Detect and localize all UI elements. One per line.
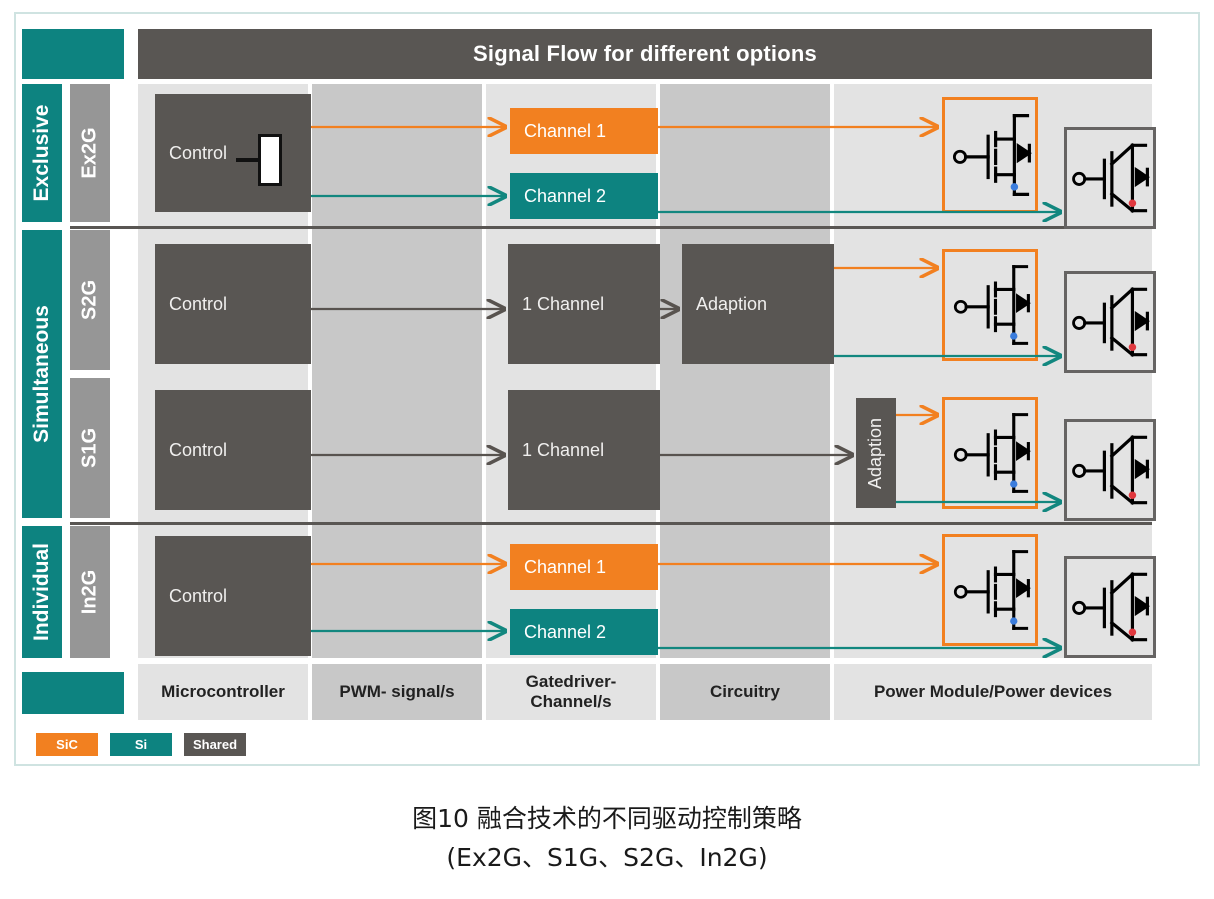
control-label-ex2g: Control <box>155 143 227 164</box>
circuitry-adaption-label-s2g: Adaption <box>682 294 767 315</box>
column-strip-pwm <box>312 84 482 658</box>
row-code-label-ex2g: Ex2G <box>79 127 102 178</box>
category-label-exclusive: Exclusive <box>30 105 54 202</box>
gatedriver-channel1-label-ex2g: Channel 1 <box>510 121 606 142</box>
gatedriver-1channel-label-s1g: 1 Channel <box>508 440 604 461</box>
category-individual: Individual <box>22 526 62 658</box>
source-terminal-dot <box>1010 332 1017 339</box>
source-terminal-dot <box>1011 183 1019 191</box>
figure-page: Signal Flow for different options Exclus… <box>0 0 1214 899</box>
footer-label-gatedriver-line1: Gatedriver- <box>526 672 617 692</box>
gatedriver-channel1-in2g: Channel 1 <box>510 544 658 590</box>
control-block-in2g: Control <box>155 536 311 656</box>
emitter-terminal-dot <box>1129 492 1136 499</box>
row-code-s1g: S1G <box>70 378 110 518</box>
figure-caption-line2: (Ex2G、S1G、S2G、In2G) <box>0 839 1214 878</box>
diagram-title-bar: Signal Flow for different options <box>138 29 1152 79</box>
sic-mosfet-box-in2g <box>942 534 1038 646</box>
footer-label-circuitry: Circuitry <box>660 664 830 720</box>
igbt-symbol-icon <box>1067 274 1153 370</box>
row-divider-1 <box>70 226 1152 229</box>
sic-mosfet-box-ex2g <box>942 97 1038 213</box>
diagram-title: Signal Flow for different options <box>473 41 817 67</box>
control-label-s2g: Control <box>155 294 227 315</box>
row-code-in2g: In2G <box>70 526 110 658</box>
emitter-terminal-dot <box>1129 200 1136 207</box>
cursor-pointer-icon <box>258 134 282 186</box>
row-divider-2 <box>70 522 1152 525</box>
footer-corner-swatch <box>22 672 124 714</box>
emitter-terminal-dot <box>1129 629 1136 636</box>
row-code-label-s1g: S1G <box>79 428 102 468</box>
row-code-ex2g: Ex2G <box>70 84 110 222</box>
mosfet-symbol-icon <box>945 537 1035 643</box>
cursor-pointer-tail-icon <box>236 158 260 162</box>
row-code-label-in2g: In2G <box>79 570 102 614</box>
legend-item-sic: SiC <box>36 733 98 756</box>
column-strip-circuitry <box>660 84 830 658</box>
sic-mosfet-box-s2g <box>942 249 1038 361</box>
si-igbt-box-ex2g <box>1064 127 1156 229</box>
legend-item-si: Si <box>110 733 172 756</box>
footer-label-microcontroller: Microcontroller <box>138 664 308 720</box>
legend-item-shared: Shared <box>184 733 246 756</box>
gatedriver-channel1-ex2g: Channel 1 <box>510 108 658 154</box>
circuitry-adaption-label-s1g: Adaption <box>866 417 887 488</box>
gatedriver-channel2-ex2g: Channel 2 <box>510 173 658 219</box>
si-igbt-box-s1g <box>1064 419 1156 521</box>
gatedriver-1channel-s2g: 1 Channel <box>508 244 660 364</box>
mosfet-symbol-icon <box>945 400 1035 506</box>
gatedriver-channel2-in2g: Channel 2 <box>510 609 658 655</box>
gatedriver-channel1-label-in2g: Channel 1 <box>510 557 606 578</box>
sic-mosfet-box-s1g <box>942 397 1038 509</box>
row-code-label-s2g: S2G <box>79 280 102 320</box>
source-terminal-dot <box>1010 480 1017 487</box>
legend: SiC Si Shared <box>36 733 246 756</box>
si-igbt-box-s2g <box>1064 271 1156 373</box>
footer-label-gatedriver: Gatedriver- Channel/s <box>486 664 656 720</box>
igbt-symbol-icon <box>1067 422 1153 518</box>
control-label-s1g: Control <box>155 440 227 461</box>
gatedriver-channel2-label-in2g: Channel 2 <box>510 622 606 643</box>
control-block-s2g: Control <box>155 244 311 364</box>
mosfet-symbol-icon <box>945 100 1035 210</box>
control-block-s1g: Control <box>155 390 311 510</box>
category-label-simultaneous: Simultaneous <box>30 305 54 443</box>
figure-caption-line1: 图10 融合技术的不同驱动控制策略 <box>0 800 1214 839</box>
category-label-individual: Individual <box>30 543 54 641</box>
category-exclusive: Exclusive <box>22 84 62 222</box>
footer-label-gatedriver-line2: Channel/s <box>526 692 617 712</box>
figure-caption: 图10 融合技术的不同驱动控制策略 (Ex2G、S1G、S2G、In2G) <box>0 800 1214 878</box>
control-block-ex2g: Control <box>155 94 311 212</box>
control-label-in2g: Control <box>155 586 227 607</box>
circuitry-adaption-s2g: Adaption <box>682 244 834 364</box>
footer-label-pwm: PWM- signal/s <box>312 664 482 720</box>
row-code-s2g: S2G <box>70 230 110 370</box>
igbt-symbol-icon <box>1067 130 1153 226</box>
gatedriver-channel2-label-ex2g: Channel 2 <box>510 186 606 207</box>
gatedriver-1channel-label-s2g: 1 Channel <box>508 294 604 315</box>
gatedriver-1channel-s1g: 1 Channel <box>508 390 660 510</box>
category-simultaneous: Simultaneous <box>22 230 62 518</box>
header-corner-swatch <box>22 29 124 79</box>
circuitry-adaption-s1g: Adaption <box>856 398 896 508</box>
si-igbt-box-in2g <box>1064 556 1156 658</box>
igbt-symbol-icon <box>1067 559 1153 655</box>
source-terminal-dot <box>1010 617 1017 624</box>
footer-label-power-module: Power Module/Power devices <box>834 664 1152 720</box>
emitter-terminal-dot <box>1129 344 1136 351</box>
mosfet-symbol-icon <box>945 252 1035 358</box>
